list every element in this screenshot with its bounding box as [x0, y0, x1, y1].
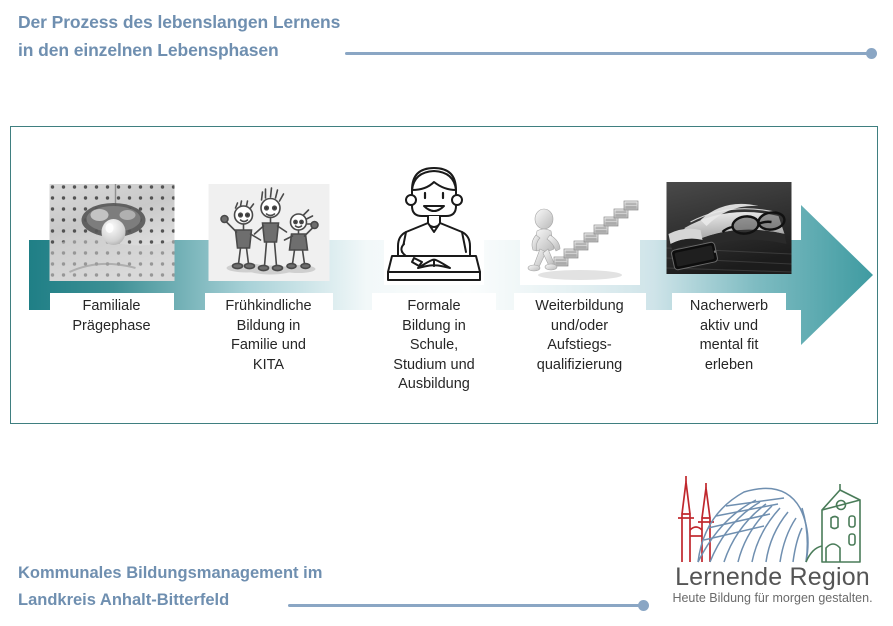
stage-3[interactable]: Formale Bildung in Schule, Studium und A… — [349, 127, 519, 425]
stage-3-image — [384, 160, 484, 285]
stage-2[interactable]: Frühkindliche Bildung in Familie und KIT… — [186, 127, 351, 425]
title-rule-dot — [866, 48, 877, 59]
stage-2-label: Frühkindliche Bildung in Familie und KIT… — [186, 297, 351, 375]
stage-1[interactable]: Familiale Prägephase — [29, 127, 194, 425]
stage-5-label: Nacherwerb aktiv und mental fit erleben — [649, 297, 809, 375]
stage-5-image — [667, 182, 792, 274]
footer-rule-line — [288, 604, 643, 607]
lernende-region-logo: Lernende Region Heute Bildung für morgen… — [660, 474, 885, 620]
process-diagram-box: Familiale Prägephase — [10, 126, 878, 424]
logo-tagline: Heute Bildung für morgen gestalten. — [660, 591, 885, 605]
three-children-stick-figure-drawing — [208, 184, 329, 281]
title-rule-line — [345, 52, 870, 55]
stage-4[interactable]: Weiterbildung und/oder Aufstiegs- qualif… — [497, 127, 662, 425]
title-rule — [345, 47, 880, 61]
books-glasses-smartphone-photo — [667, 182, 792, 274]
logo-mark-icon — [660, 474, 885, 566]
stage-4-label: Weiterbildung und/oder Aufstiegs- qualif… — [497, 297, 662, 375]
stage-1-label: Familiale Prägephase — [29, 297, 194, 336]
stage-5[interactable]: Nacherwerb aktiv und mental fit erleben — [649, 127, 809, 425]
stage-1-image — [49, 184, 174, 281]
student-at-desk-with-book-lineart — [384, 160, 484, 285]
figure-climbing-stairs-3d — [520, 189, 640, 285]
stage-3-label: Formale Bildung in Schule, Studium und A… — [349, 297, 519, 395]
stage-4-image — [520, 189, 640, 285]
footer-rule-dot — [638, 600, 649, 611]
footer-rule — [288, 599, 668, 613]
stage-2-image — [208, 184, 329, 281]
pacifier-on-polka-dot-fabric-photo — [49, 184, 174, 281]
footer-title-line-1: Kommunales Bildungsmanagement im — [18, 560, 718, 587]
logo-wordmark: Lernende Region — [660, 563, 885, 592]
page-title-line-1: Der Prozess des lebenslangen Lernens — [18, 8, 878, 36]
